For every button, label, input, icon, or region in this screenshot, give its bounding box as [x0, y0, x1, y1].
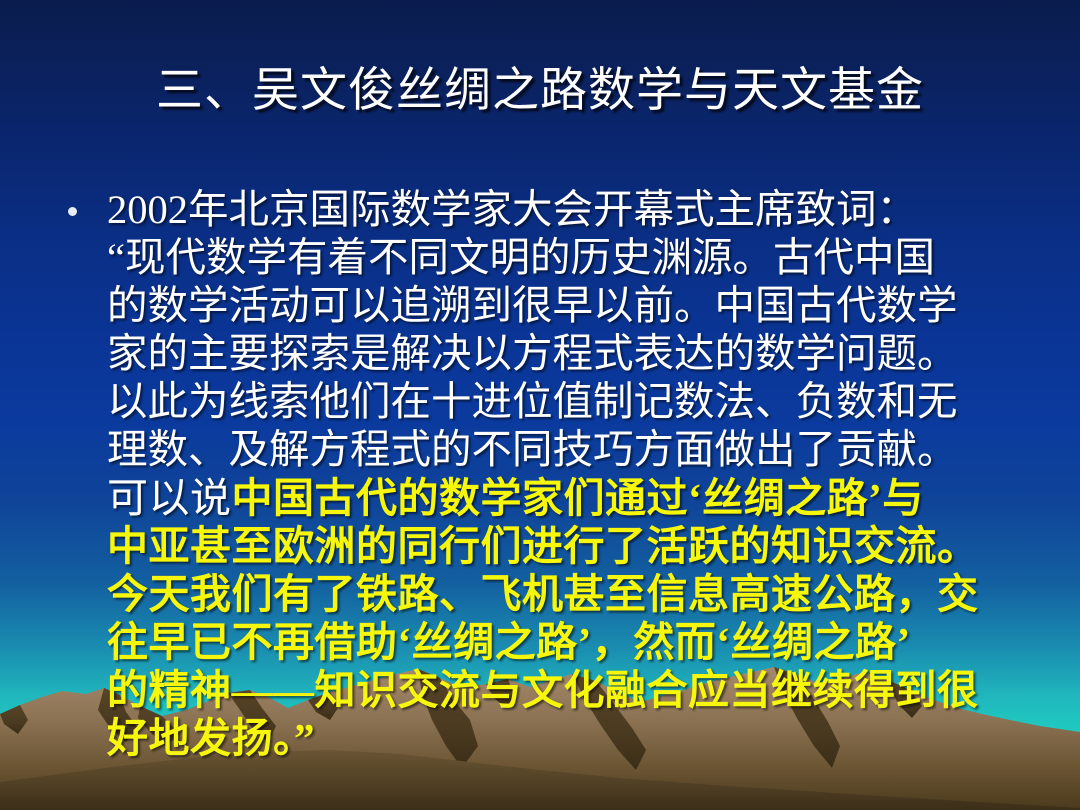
- quote-line-3: 家的主要探索是解决以方程式表达的数学问题。: [60, 330, 1020, 378]
- quote-line-5: 理数、及解方程式的不同技巧方面做出了贡献。: [60, 426, 1020, 474]
- quote-line-5-white: 理数、及解方程式的不同技巧方面做出了贡献。: [107, 427, 958, 472]
- quote-line-8-highlight: 今天我们有了铁路、飞机甚至信息高速公路，交: [107, 571, 979, 617]
- quote-line-7-highlight: 中亚甚至欧洲的同行们进行了活跃的知识交流。: [107, 523, 979, 569]
- quote-line-6: 可以说中国古代的数学家们通过‘丝绸之路’与: [60, 474, 1020, 522]
- quote-line-1-white: “现代数学有着不同文明的历史渊源。古代中国: [107, 235, 935, 280]
- quote-line-10: 的精神——知识交流与文化融合应当继续得到很: [60, 666, 1020, 714]
- quote-line-2: 的数学活动可以追溯到很早以前。中国古代数学: [60, 282, 1020, 330]
- quote-line-9: 往早已不再借助‘丝绸之路’，然而‘丝绸之路’: [60, 618, 1020, 666]
- quote-line-11-highlight: 好地发扬。”: [107, 715, 315, 761]
- quote-line-4: 以此为线索他们在十进位值制记数法、负数和无: [60, 378, 1020, 426]
- quote-line-10-highlight: 的精神——知识交流与文化融合应当继续得到很: [107, 667, 979, 713]
- presentation-slide: 三、吴文俊丝绸之路数学与天文基金 2002年北京国际数学家大会开幕式主席致词： …: [0, 0, 1080, 810]
- quote-line-3-white: 家的主要探索是解决以方程式表达的数学问题。: [107, 331, 958, 376]
- quote-line-8: 今天我们有了铁路、飞机甚至信息高速公路，交: [60, 570, 1020, 618]
- quote-line-11: 好地发扬。”: [60, 714, 1020, 762]
- slide-body: 2002年北京国际数学家大会开幕式主席致词： “现代数学有着不同文明的历史渊源。…: [60, 186, 1020, 762]
- bullet-line-text: 2002年北京国际数学家大会开幕式主席致词：: [60, 186, 917, 234]
- quote-line-4-white: 以此为线索他们在十进位值制记数法、负数和无: [107, 379, 958, 424]
- quote-line-6-highlight: 中国古代的数学家们通过‘丝绸之路’与: [232, 475, 924, 521]
- bullet-dot-icon: [68, 207, 77, 216]
- quote-line-7: 中亚甚至欧洲的同行们进行了活跃的知识交流。: [60, 522, 1020, 570]
- slide-title: 三、吴文俊丝绸之路数学与天文基金: [0, 62, 1080, 120]
- quote-line-1: “现代数学有着不同文明的历史渊源。古代中国: [60, 234, 1020, 282]
- quote-line-2-white: 的数学活动可以追溯到很早以前。中国古代数学: [107, 283, 958, 328]
- bullet-line: 2002年北京国际数学家大会开幕式主席致词：: [60, 186, 1020, 234]
- quote-line-6-white: 可以说: [107, 475, 232, 521]
- quote-line-9-highlight: 往早已不再借助‘丝绸之路’，然而‘丝绸之路’: [107, 619, 911, 665]
